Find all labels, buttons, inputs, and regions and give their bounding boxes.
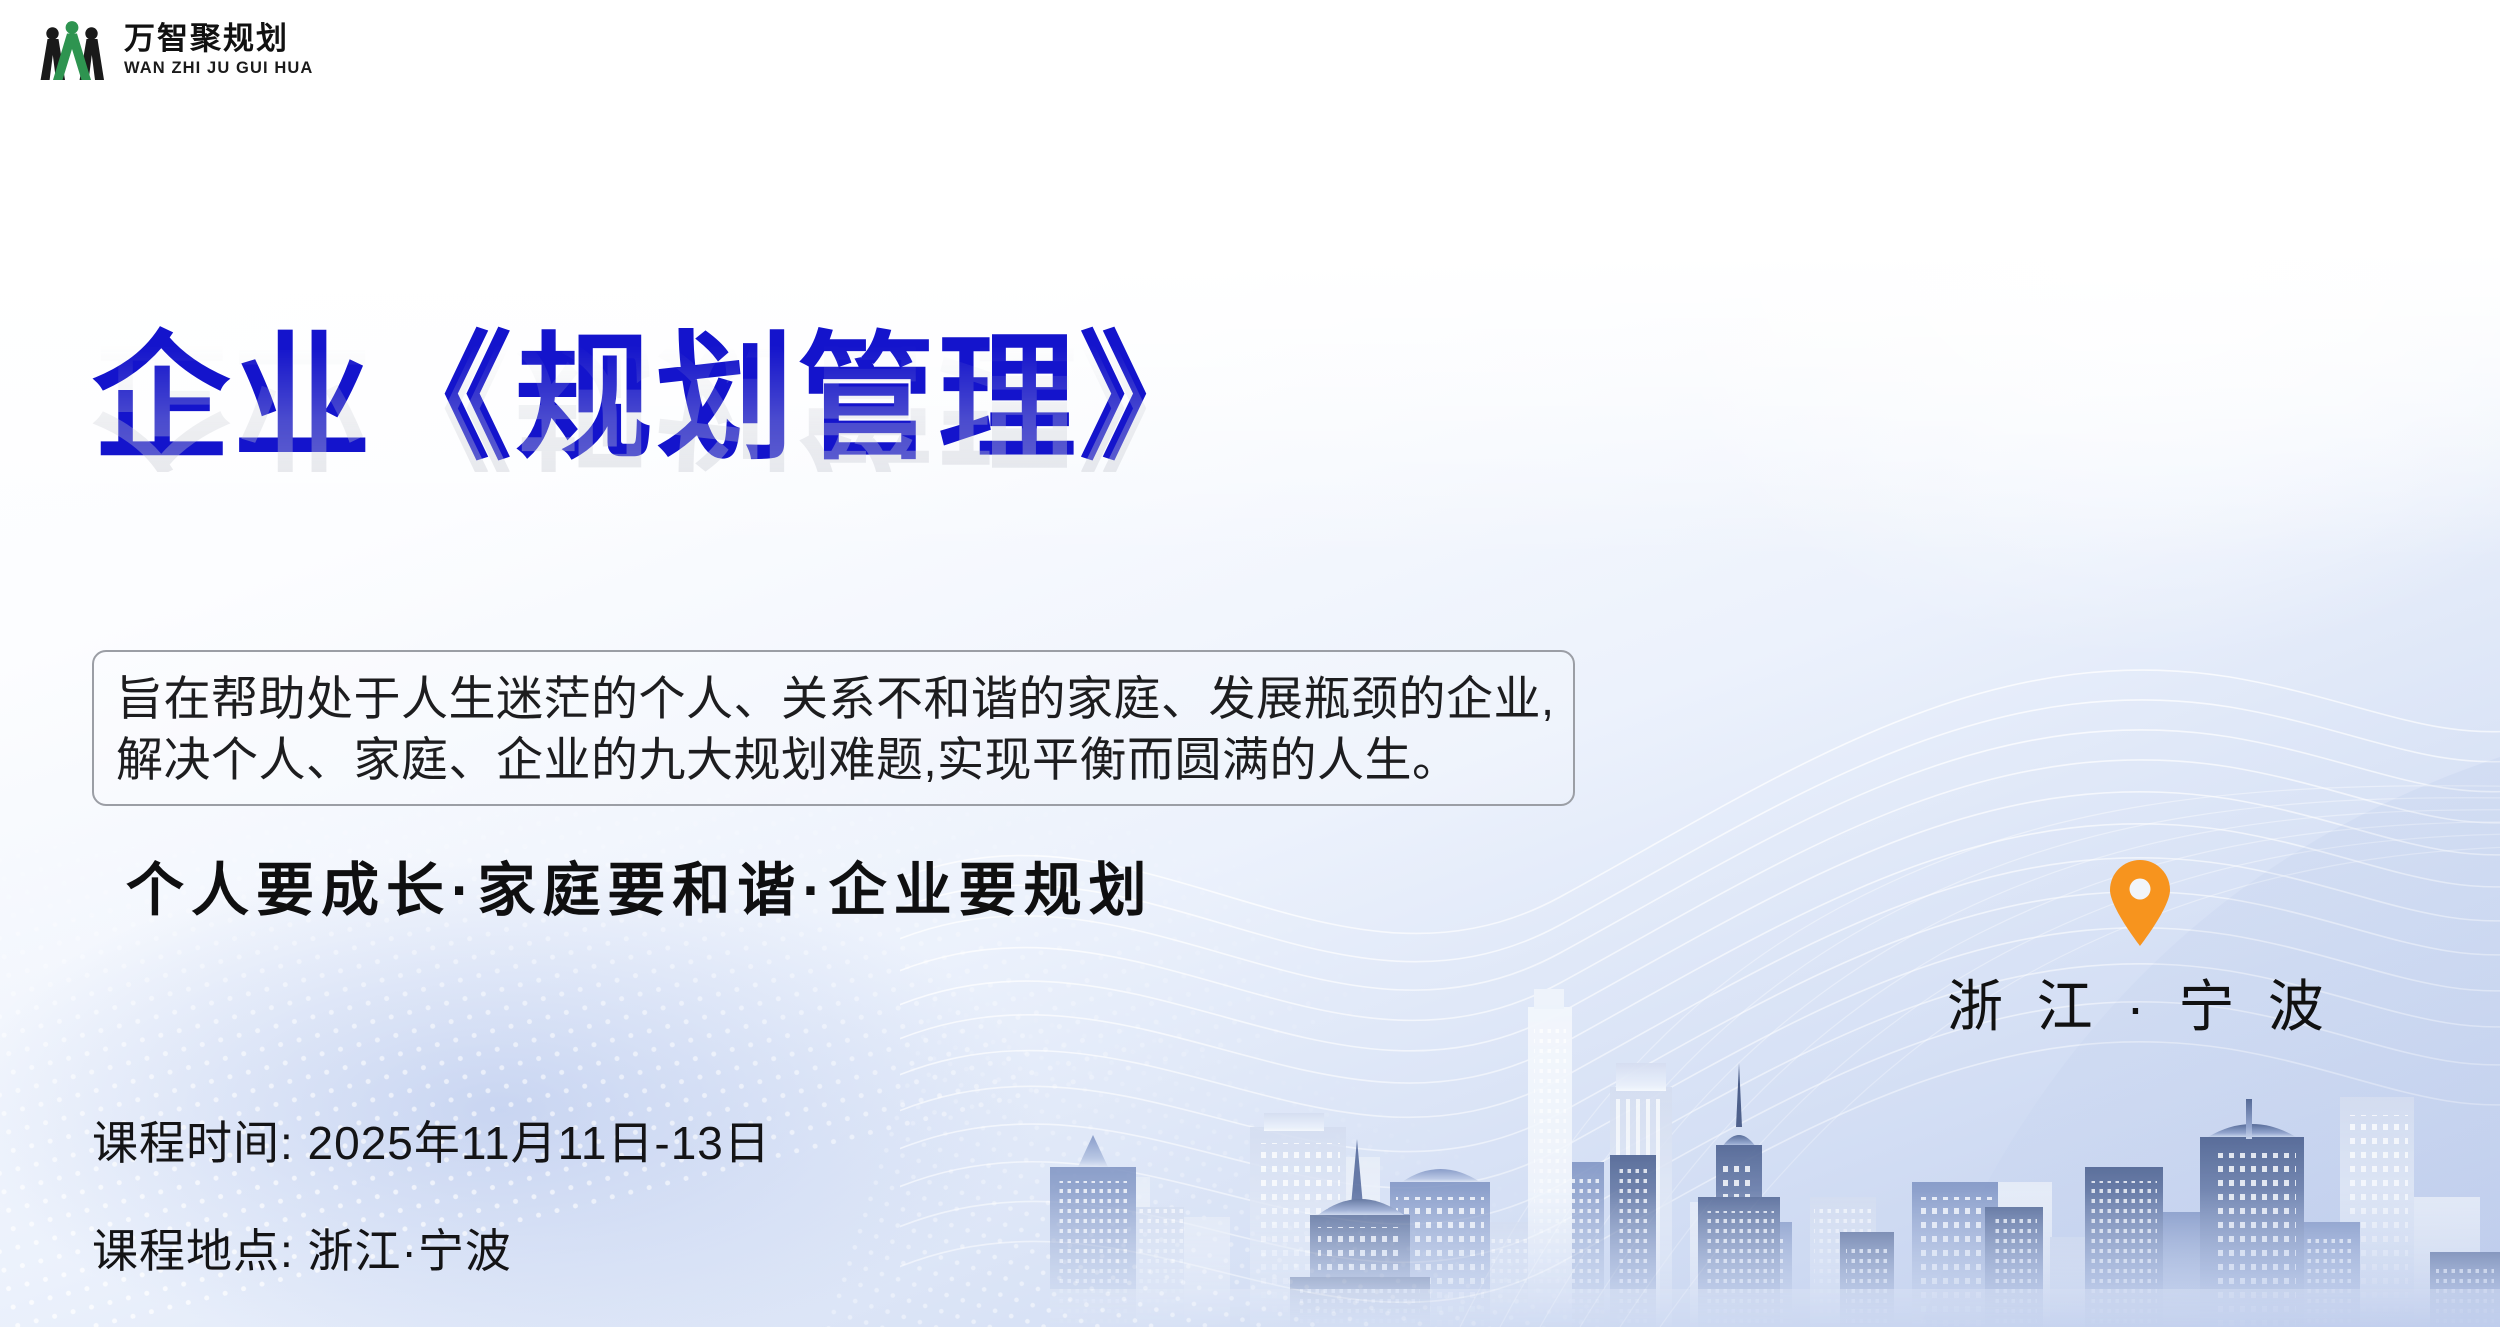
course-place-row: 课程地点: 浙江·宁波 [92, 1215, 771, 1281]
brand-name-en: WAN ZHI JU GUI HUA [124, 59, 313, 78]
location-block: 浙 江 · 宁 波 [1930, 860, 2350, 1043]
course-time-row: 课程时间: 2025年11月11日-13日 [92, 1107, 771, 1173]
brand-name-cn: 万智聚规划 [124, 22, 313, 57]
brand-logo-text: 万智聚规划 WAN ZHI JU GUI HUA [124, 22, 313, 78]
description-line-2: 解决个人、家庭、企业的九大规划难题,实现平衡而圆满的人生。 [116, 729, 1553, 790]
brand-logo: 万智聚规划 WAN ZHI JU GUI HUA [34, 18, 313, 82]
map-pin-icon [2107, 860, 2173, 946]
three-people-m-logo-icon [34, 18, 110, 82]
headline-block: 企业《规划管理》 企业《规划管理》 [92, 330, 1220, 610]
poster-canvas: 万智聚规划 WAN ZHI JU GUI HUA 企业《规划管理》 企业《规划管… [0, 0, 2500, 1327]
page-title-reflection: 企业《规划管理》 [92, 334, 1220, 472]
location-label: 浙 江 · 宁 波 [1947, 962, 2333, 1043]
course-info-block: 课程时间: 2025年11月11日-13日 课程地点: 浙江·宁波 [92, 1107, 771, 1281]
description-line-1: 旨在帮助处于人生迷茫的个人、关系不和谐的家庭、发展瓶颈的企业, [116, 668, 1553, 729]
description-box: 旨在帮助处于人生迷茫的个人、关系不和谐的家庭、发展瓶颈的企业, 解决个人、家庭、… [92, 650, 1575, 806]
slogan-text: 个人要成长·家庭要和谐·企业要规划 [126, 843, 1154, 927]
